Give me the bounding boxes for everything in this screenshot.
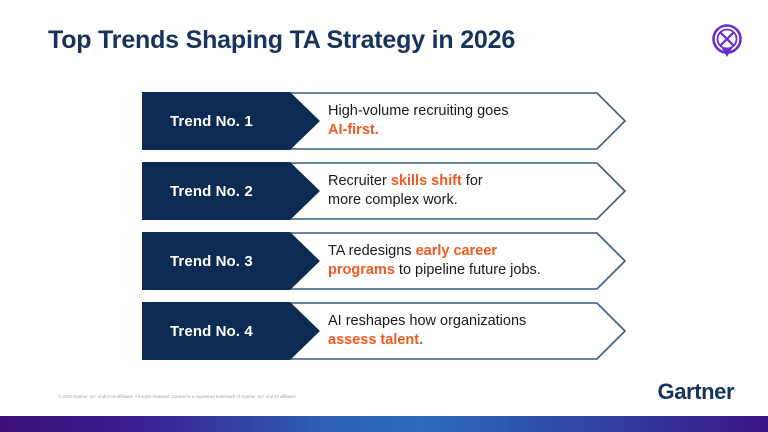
trend-line-1-pre: Recruiter bbox=[328, 173, 391, 189]
list-item[interactable]: Trend No. 1 High-volume recruiting goes … bbox=[142, 92, 626, 150]
trend-text: TA redesigns early career programs to pi… bbox=[328, 232, 598, 290]
trend-line-1: High-volume recruiting goes bbox=[328, 102, 598, 121]
trend-line-2-plain: more complex work. bbox=[328, 192, 458, 208]
trend-text: Recruiter skills shift for more complex … bbox=[328, 162, 598, 220]
trend-number-block: Trend No. 3 bbox=[142, 232, 320, 290]
trend-number-label: Trend No. 4 bbox=[142, 323, 253, 340]
trend-line-1-highlight: skills shift bbox=[391, 173, 462, 189]
trend-line-2-highlight: AI-first. bbox=[328, 122, 379, 138]
trend-line-1: TA redesigns early career bbox=[328, 242, 598, 261]
trend-line-1-plain: High-volume recruiting goes bbox=[328, 103, 509, 119]
slide-canvas: Top Trends Shaping TA Strategy in 2026 T… bbox=[0, 0, 768, 432]
list-item[interactable]: Trend No. 4 AI reshapes how organization… bbox=[142, 302, 626, 360]
gartner-logo-text: Gartner bbox=[658, 379, 735, 404]
copyright-notice: © 2025 Gartner, Inc. and/or its affiliat… bbox=[58, 394, 297, 399]
trend-number-label: Trend No. 3 bbox=[142, 253, 253, 270]
list-item[interactable]: Trend No. 2 Recruiter skills shift for m… bbox=[142, 162, 626, 220]
trend-line-1-highlight: early career bbox=[416, 243, 497, 259]
trend-list: Trend No. 1 High-volume recruiting goes … bbox=[142, 92, 626, 360]
bottom-accent-bar bbox=[0, 416, 768, 432]
registered-mark: . bbox=[734, 384, 736, 393]
page-title: Top Trends Shaping TA Strategy in 2026 bbox=[48, 26, 515, 55]
trend-line-1-plain: AI reshapes how organizations bbox=[328, 313, 526, 329]
trend-number-label: Trend No. 1 bbox=[142, 113, 253, 130]
trend-line-2-highlight: programs bbox=[328, 262, 395, 278]
trend-line-2: programs to pipeline future jobs. bbox=[328, 261, 598, 280]
trend-line-2: assess talent. bbox=[328, 331, 598, 350]
trend-text: AI reshapes how organizations assess tal… bbox=[328, 302, 598, 360]
trend-number-block: Trend No. 4 bbox=[142, 302, 320, 360]
x-in-circle-pin-icon bbox=[708, 22, 746, 60]
trend-text: High-volume recruiting goes AI-first. bbox=[328, 92, 598, 150]
trend-line-2: AI-first. bbox=[328, 121, 598, 140]
trend-line-1-pre: TA redesigns bbox=[328, 243, 416, 259]
trend-number-block: Trend No. 1 bbox=[142, 92, 320, 150]
gartner-logo: Gartner. bbox=[658, 379, 737, 405]
trend-line-2-post: to pipeline future jobs. bbox=[395, 262, 541, 278]
trend-number-label: Trend No. 2 bbox=[142, 183, 253, 200]
trend-line-2-highlight: assess talent. bbox=[328, 332, 423, 348]
trend-number-block: Trend No. 2 bbox=[142, 162, 320, 220]
trend-line-1-post: for bbox=[462, 173, 483, 189]
trend-line-1: AI reshapes how organizations bbox=[328, 312, 598, 331]
trend-line-2: more complex work. bbox=[328, 191, 598, 210]
trend-line-1: Recruiter skills shift for bbox=[328, 172, 598, 191]
list-item[interactable]: Trend No. 3 TA redesigns early career pr… bbox=[142, 232, 626, 290]
